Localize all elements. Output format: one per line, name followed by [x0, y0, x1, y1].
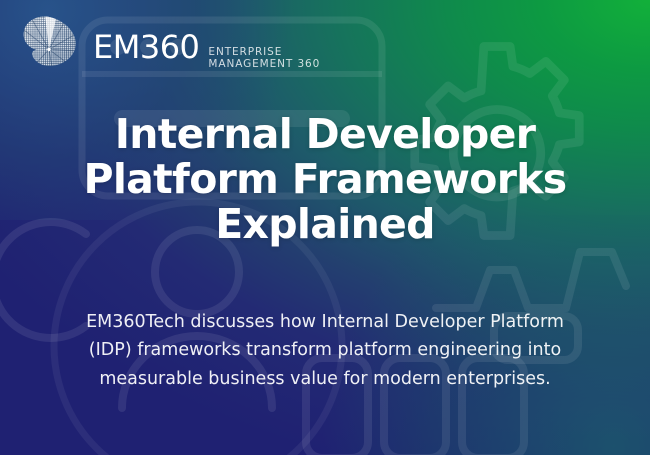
body-copy: EM360Tech discusses how Internal Develop…	[0, 308, 650, 393]
headline-line-2: Platform Frameworks	[40, 157, 610, 202]
headline: Internal Developer Platform Frameworks E…	[0, 112, 650, 247]
logo-text-block: EM360 ENTERPRISE MANAGEMENT 360	[93, 31, 320, 74]
em360-fan-logo-icon	[14, 13, 84, 83]
headline-line-3: Explained	[40, 202, 610, 247]
brand-logo: EM360 ENTERPRISE MANAGEMENT 360	[14, 12, 320, 84]
logo-tagline: ENTERPRISE MANAGEMENT 360	[208, 46, 320, 71]
logo-wordmark: EM360	[93, 31, 199, 63]
headline-line-1: Internal Developer	[40, 112, 610, 157]
logo-tagline-line1: ENTERPRISE	[208, 46, 320, 58]
promo-card: EM360 ENTERPRISE MANAGEMENT 360 Internal…	[0, 0, 650, 455]
logo-tagline-line2: MANAGEMENT 360	[208, 58, 320, 70]
